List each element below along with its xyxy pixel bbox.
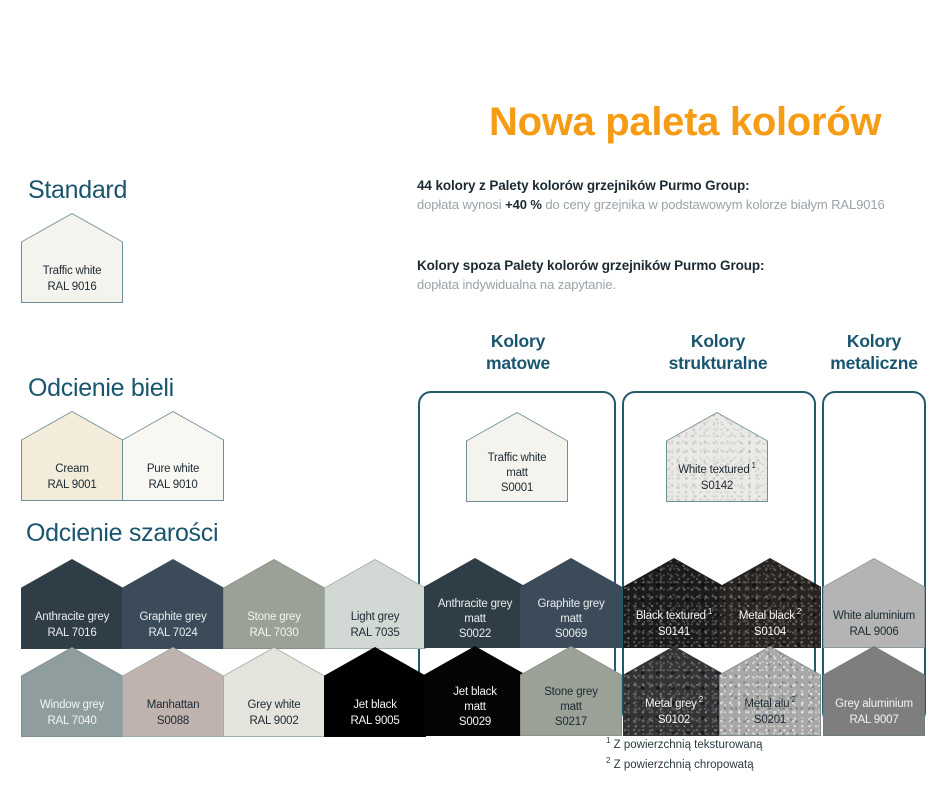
column-heading-structural: Kolory strukturalne [620,330,816,374]
swatch-label: Black textured 1S0141 [624,604,724,640]
swatch-label: Graphite greymattS0069 [521,597,621,642]
info-body-2: dopłata indywidualna na zapytanie. [417,276,927,293]
swatch-color-name: Anthracite grey [22,610,122,626]
swatch-code: RAL 9002 [224,714,324,730]
swatch-structural-metal-alu[interactable]: Metal alu 2S0201 [720,647,820,735]
swatch-structural-metal-black[interactable]: Metal black 2S0104 [720,559,820,647]
swatch-metallic-grey-aluminium[interactable]: Grey aluminiumRAL 9007 [824,647,924,735]
info-heading-1: 44 kolory z Palety kolorów grzejników Pu… [417,178,927,193]
swatch-label: Metal black 2S0104 [720,604,820,640]
footnote-1: 1 Z powierzchnią teksturowaną [606,733,763,753]
swatch-matte-graphite[interactable]: Graphite greymattS0069 [521,559,621,647]
swatch-code: RAL 7016 [22,626,122,642]
swatch-color-name: Stone grey [521,685,621,700]
swatch-code: RAL 9007 [824,713,924,729]
swatch-code: S0201 [720,713,820,729]
swatch-label: White textured 1S0142 [667,458,767,494]
column-heading-matte: Kolory matowe [418,330,618,374]
swatch-code: S0088 [123,714,223,730]
column-heading-metallic-line1: Kolory [847,331,901,351]
swatch-code: S0141 [624,625,724,641]
info-heading-2: Kolory spoza Palety kolorów grzejników P… [417,258,927,273]
swatch-footnote-marker: 2 [697,695,703,704]
swatch-color-name: Manhattan [123,698,223,714]
swatch-label: Graphite greyRAL 7024 [123,610,223,641]
swatch-white-1[interactable]: CreamRAL 9001 [22,412,122,500]
swatch-grey-r2-4[interactable]: Jet blackRAL 9005 [325,648,425,736]
swatch-matte-stone-grey[interactable]: Stone greymattS0217 [521,647,621,735]
swatch-finish: matt [425,700,525,715]
section-heading-greys: Odcienie szarości [26,519,218,548]
section-heading-whites: Odcienie bieli [28,374,174,403]
swatch-color-name: Stone grey [224,610,324,626]
swatch-code: RAL 7040 [22,714,122,730]
swatch-grey-r2-2[interactable]: ManhattanS0088 [123,648,223,736]
swatch-label: Jet blackmattS0029 [425,685,525,730]
info-body-1-bold: +40 % [505,197,542,212]
column-heading-structural-line2: strukturalne [669,353,768,373]
footnote-text: Z powierzchnią teksturowaną [610,739,762,751]
swatch-label: ManhattanS0088 [123,698,223,729]
swatch-color-name: Anthracite grey [425,597,525,612]
swatch-structural-white-textured[interactable]: White textured 1S0142 [667,413,767,501]
swatch-label: Metal alu 2S0201 [720,692,820,728]
info-body-1-post: do ceny grzejnika w podstawowym kolorze … [542,197,885,212]
swatch-label: Stone greyRAL 7030 [224,610,324,641]
column-heading-metallic: Kolory metaliczne [818,330,930,374]
swatch-label: Pure whiteRAL 9010 [123,462,223,493]
swatch-finish: matt [521,700,621,715]
column-heading-metallic-line2: metaliczne [830,353,917,373]
swatch-code: S0142 [667,479,767,495]
info-block-palette: 44 kolory z Palety kolorów grzejników Pu… [417,178,927,213]
swatch-grey-r2-1[interactable]: Window greyRAL 7040 [22,648,122,736]
swatch-code: S0102 [624,713,724,729]
swatch-structural-metal-grey[interactable]: Metal grey 2S0102 [624,647,724,735]
swatch-code: S0022 [425,627,525,642]
swatch-grey-r1-1[interactable]: Anthracite greyRAL 7016 [22,560,122,648]
swatch-label: Grey aluminiumRAL 9007 [824,697,924,728]
swatch-standard-traffic-white[interactable]: Traffic whiteRAL 9016 [22,214,122,302]
swatch-color-name: Metal alu 2 [720,692,820,712]
swatch-finish: matt [425,612,525,627]
swatch-code: S0069 [521,627,621,642]
swatch-code: RAL 9005 [325,714,425,730]
footnote-2: 2 Z powierzchnią chropowatą [606,753,763,773]
swatch-metallic-white-aluminium[interactable]: White aluminiumRAL 9006 [824,559,924,647]
swatch-grey-r1-3[interactable]: Stone greyRAL 7030 [224,560,324,648]
swatch-code: S0001 [467,481,567,496]
swatch-code: S0217 [521,715,621,730]
swatch-finish: matt [467,466,567,481]
swatch-code: RAL 9001 [22,478,122,494]
swatch-label: Anthracite greymattS0022 [425,597,525,642]
swatch-label: Light greyRAL 7035 [325,610,425,641]
swatch-footnote-marker: 2 [795,607,801,616]
swatch-color-name: Jet black [425,685,525,700]
swatch-color-name: Graphite grey [521,597,621,612]
section-heading-standard: Standard [28,176,127,205]
swatch-matte-anthracite[interactable]: Anthracite greymattS0022 [425,559,525,647]
swatch-color-name: Grey white [224,698,324,714]
swatch-footnote-marker: 2 [789,695,795,704]
swatch-color-name: Window grey [22,698,122,714]
swatch-grey-r1-4[interactable]: Light greyRAL 7035 [325,560,425,648]
swatch-color-name: Black textured 1 [624,604,724,624]
swatch-label: Stone greymattS0217 [521,685,621,730]
swatch-color-name: White textured 1 [667,458,767,478]
swatch-label: Traffic whiteRAL 9016 [22,264,122,295]
swatch-color-name: Cream [22,462,122,478]
swatch-footnote-marker: 1 [750,461,756,470]
swatch-label: Jet blackRAL 9005 [325,698,425,729]
page-title: Nowa paleta kolorów [489,100,881,145]
swatch-label: Window greyRAL 7040 [22,698,122,729]
swatch-label: Metal grey 2S0102 [624,692,724,728]
swatch-code: RAL 7024 [123,626,223,642]
swatch-code: RAL 9006 [824,625,924,641]
swatch-color-name: Traffic white [467,451,567,466]
swatch-footnote-marker: 1 [706,607,712,616]
swatch-grey-r2-3[interactable]: Grey whiteRAL 9002 [224,648,324,736]
swatch-color-name: Graphite grey [123,610,223,626]
swatch-color-name: Grey aluminium [824,697,924,713]
swatch-label: Traffic whitemattS0001 [467,451,567,496]
swatch-code: S0029 [425,715,525,730]
swatch-label: Anthracite greyRAL 7016 [22,610,122,641]
footnotes: 1 Z powierzchnią teksturowaną2 Z powierz… [606,733,763,773]
swatch-color-name: Traffic white [22,264,122,280]
swatch-code: RAL 9016 [22,280,122,296]
info-block-outside-palette: Kolory spoza Palety kolorów grzejników P… [417,258,927,293]
swatch-label: Grey whiteRAL 9002 [224,698,324,729]
column-heading-matte-line1: Kolory [491,331,545,351]
swatch-matte-jet-black[interactable]: Jet blackmattS0029 [425,647,525,735]
info-body-1: dopłata wynosi +40 % do ceny grzejnika w… [417,196,927,213]
color-palette-page: Nowa paleta kolorów 44 kolory z Palety k… [0,0,940,788]
swatch-code: S0104 [720,625,820,641]
footnote-text: Z powierzchnią chropowatą [610,759,753,771]
swatch-white-2[interactable]: Pure whiteRAL 9010 [123,412,223,500]
column-heading-matte-line2: matowe [486,353,550,373]
swatch-label: White aluminiumRAL 9006 [824,609,924,640]
swatch-color-name: Pure white [123,462,223,478]
swatch-structural-black-textured[interactable]: Black textured 1S0141 [624,559,724,647]
swatch-color-name: Metal black 2 [720,604,820,624]
swatch-color-name: Metal grey 2 [624,692,724,712]
swatch-grey-r1-2[interactable]: Graphite greyRAL 7024 [123,560,223,648]
swatch-color-name: White aluminium [824,609,924,625]
swatch-color-name: Jet black [325,698,425,714]
info-body-1-pre: dopłata wynosi [417,197,505,212]
swatch-matte-traffic-white[interactable]: Traffic whitemattS0001 [467,413,567,501]
swatch-finish: matt [521,612,621,627]
swatch-label: CreamRAL 9001 [22,462,122,493]
swatch-code: RAL 7030 [224,626,324,642]
swatch-code: RAL 9010 [123,478,223,494]
swatch-color-name: Light grey [325,610,425,626]
column-heading-structural-line1: Kolory [691,331,745,351]
swatch-code: RAL 7035 [325,626,425,642]
